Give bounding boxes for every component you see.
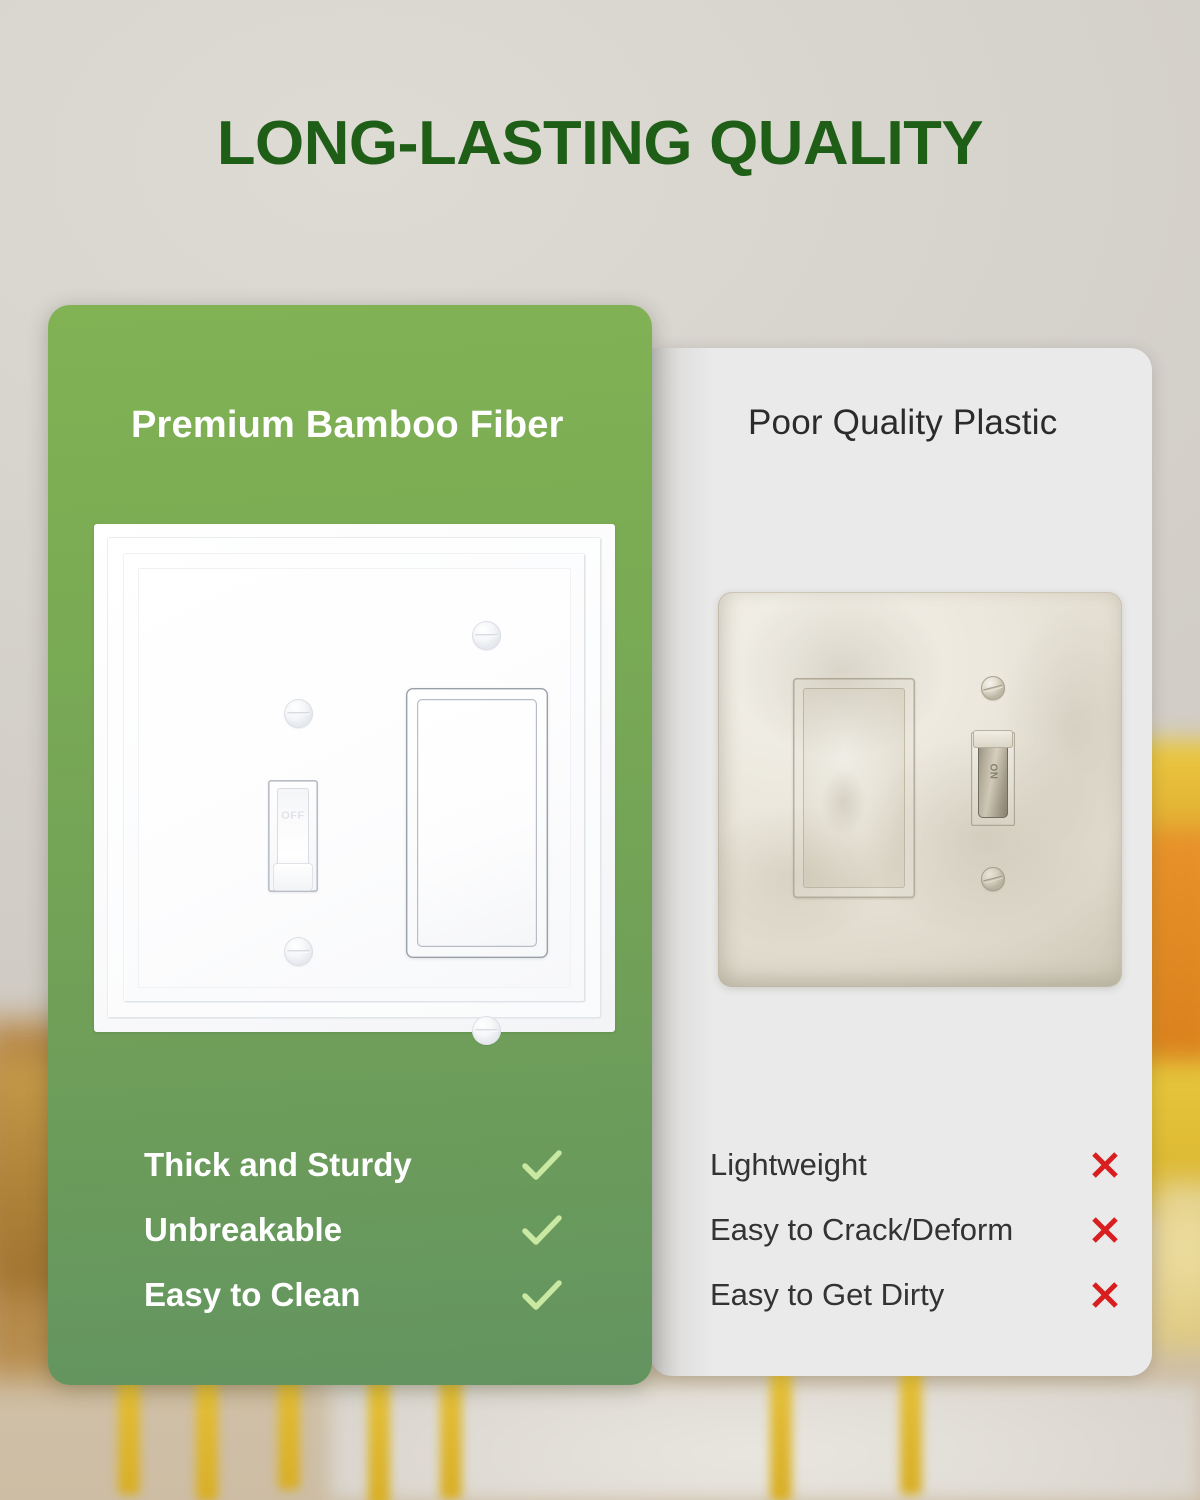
wallplate-face: OFF: [138, 568, 571, 988]
feature-row: Thick and Sturdy: [144, 1132, 564, 1197]
page-title: LONG-LASTING QUALITY: [0, 108, 1200, 179]
check-icon: [520, 1147, 564, 1183]
feature-label: Easy to Get Dirty: [710, 1277, 944, 1313]
feature-label: Unbreakable: [144, 1211, 342, 1249]
cross-icon: [1078, 1148, 1122, 1182]
plate-edge-shading: [718, 592, 1122, 987]
feature-row: Easy to Get Dirty: [710, 1262, 1122, 1327]
feature-row: Unbreakable: [144, 1197, 564, 1262]
screw-icon: [981, 676, 1005, 700]
toggle-switch: OFF: [268, 780, 318, 892]
screw-icon: [981, 867, 1005, 891]
infographic-canvas: LONG-LASTING QUALITY Premium Bamboo Fibe…: [0, 0, 1200, 1500]
toggle-switch-lever: OFF: [277, 788, 309, 884]
left-panel-heading: Premium Bamboo Fiber: [131, 404, 564, 447]
toggle-switch-tip: [973, 730, 1013, 748]
toggle-switch-label: ON: [988, 757, 999, 787]
toggle-switch-lever: ON: [978, 736, 1008, 818]
check-icon: [520, 1212, 564, 1248]
feature-label: Easy to Crack/Deform: [710, 1212, 1013, 1248]
feature-label: Lightweight: [710, 1147, 867, 1183]
cross-icon: [1078, 1213, 1122, 1247]
product-image-plastic-wallplate: ON: [718, 592, 1122, 987]
rocker-switch-paddle: [803, 688, 905, 888]
screw-icon: [472, 621, 501, 650]
screw-icon: [472, 1016, 501, 1045]
plate-grime-overlay: [718, 592, 1122, 987]
check-icon: [520, 1277, 564, 1313]
toggle-switch-tip: [273, 863, 313, 891]
feature-row: Lightweight: [710, 1132, 1122, 1197]
toggle-switch: ON: [971, 732, 1015, 826]
right-panel-heading: Poor Quality Plastic: [748, 403, 1057, 443]
background-side-table: [1150, 1180, 1200, 1350]
feature-list-bamboo: Thick and Sturdy Unbreakable Easy to Cle…: [144, 1132, 564, 1327]
toggle-switch-label: OFF: [277, 810, 309, 822]
feature-row: Easy to Clean: [144, 1262, 564, 1327]
feature-row: Easy to Crack/Deform: [710, 1197, 1122, 1262]
cross-icon: [1078, 1278, 1122, 1312]
screw-icon: [284, 937, 313, 966]
product-image-bamboo-wallplate: OFF: [94, 524, 615, 1032]
card-inner-shadow: [650, 348, 714, 1376]
screw-icon: [284, 699, 313, 728]
feature-label: Easy to Clean: [144, 1276, 360, 1314]
rocker-switch: [793, 678, 915, 898]
rocker-switch-paddle: [417, 699, 537, 947]
feature-list-plastic: Lightweight Easy to Crack/Deform Easy to…: [710, 1132, 1122, 1327]
rocker-switch: [406, 688, 548, 958]
feature-label: Thick and Sturdy: [144, 1146, 412, 1184]
